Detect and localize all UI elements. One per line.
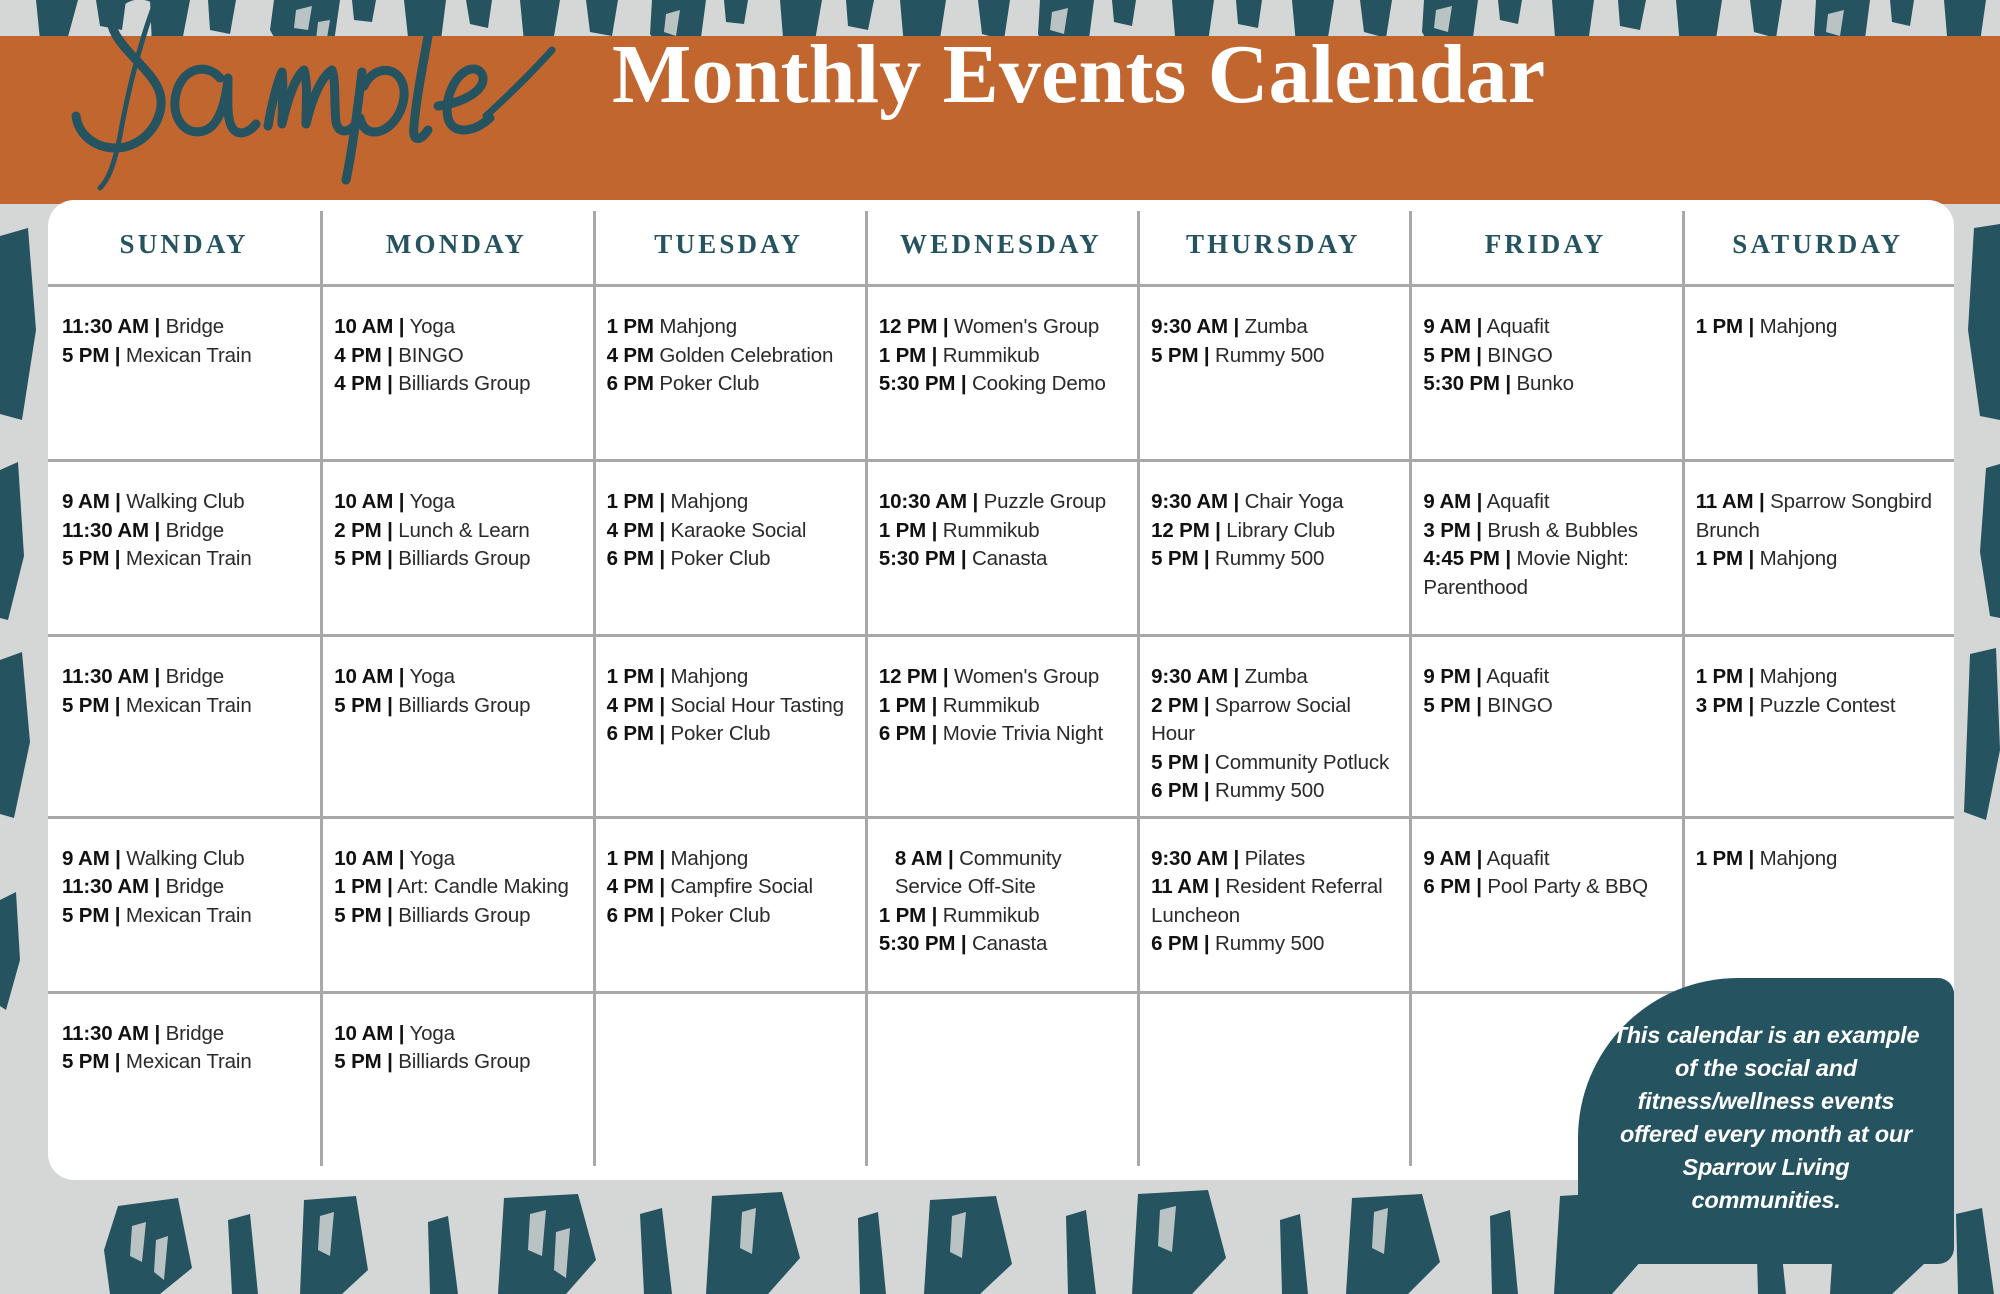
event-separator: | (926, 344, 937, 367)
day-cell-wednesday-week4[interactable]: 8 AM | Community Service Off-Site1 PM | … (865, 819, 1137, 991)
calendar-week-row: 9 AM | Walking Club11:30 AM | Bridge5 PM… (48, 819, 1954, 994)
calendar-event[interactable]: 2 PM | Sparrow Social Hour (1151, 692, 1395, 749)
event-name: Yoga (404, 847, 455, 870)
event-separator: | (1471, 665, 1482, 688)
calendar-week-row: 11:30 AM | Bridge5 PM | Mexican Train10 … (48, 287, 1954, 462)
calendar-event[interactable]: 1 PM | Rummikub (879, 902, 1123, 931)
event-name: Poker Club (665, 904, 770, 927)
event-time: 6 PM (607, 372, 654, 395)
event-time: 12 PM (879, 665, 938, 688)
calendar-event[interactable]: 9 AM | Aquafit (1423, 845, 1667, 874)
event-separator: | (1210, 519, 1221, 542)
calendar-event[interactable]: 5:30 PM | Canasta (879, 930, 1123, 959)
day-cell-wednesday-week5[interactable] (865, 994, 1137, 1166)
event-separator: | (1471, 694, 1482, 717)
calendar-event[interactable]: 5 PM | Billiards Group (334, 692, 578, 721)
day-cell-tuesday-week3[interactable]: 1 PM | Mahjong4 PM | Social Hour Tasting… (593, 637, 865, 816)
calendar-event[interactable]: 4 PM | Karaoke Social (607, 517, 851, 546)
event-separator: | (926, 904, 937, 927)
day-cell-tuesday-week5[interactable] (593, 994, 865, 1166)
event-separator: | (382, 519, 393, 542)
calendar-event[interactable]: 5:30 PM | Bunko (1423, 370, 1667, 399)
calendar-event[interactable]: 10 AM | Yoga (334, 313, 578, 342)
event-name: Mahjong (665, 490, 748, 513)
event-separator: | (654, 519, 665, 542)
event-time: 4 PM (607, 519, 654, 542)
calendar-event[interactable]: 10 AM | Yoga (334, 663, 578, 692)
event-time: 5 PM (1151, 547, 1198, 570)
event-time: 12 PM (1151, 519, 1210, 542)
calendar-event[interactable]: 1 PM | Rummikub (879, 692, 1123, 721)
day-cell-tuesday-week4[interactable]: 1 PM | Mahjong4 PM | Campfire Social6 PM… (593, 819, 865, 991)
calendar-event[interactable]: 1 PM | Mahjong (1696, 663, 1940, 692)
event-time: 6 PM (1151, 932, 1198, 955)
event-separator: | (654, 875, 665, 898)
day-cell-monday-week1[interactable]: 10 AM | Yoga4 PM | BINGO4 PM | Billiards… (320, 287, 592, 459)
event-time: 6 PM (607, 722, 654, 745)
event-time: 4:45 PM (1423, 547, 1499, 570)
event-separator: | (109, 904, 120, 927)
event-separator: | (654, 904, 665, 927)
event-time: 1 PM (879, 694, 926, 717)
calendar-event[interactable]: 9:30 AM | Chair Yoga (1151, 488, 1395, 517)
event-time: 3 PM (1423, 519, 1470, 542)
calendar-event[interactable]: 6 PM | Pool Party & BBQ (1423, 873, 1667, 902)
calendar-event[interactable]: 2 PM | Lunch & Learn (334, 517, 578, 546)
event-name: Women's Group (948, 315, 1099, 338)
event-name: Rummikub (937, 694, 1039, 717)
event-name: Poker Club (665, 547, 770, 570)
event-time: 9 AM (62, 847, 110, 870)
event-time: 5:30 PM (879, 547, 955, 570)
event-time: 11 AM (1696, 490, 1754, 513)
event-name: Rummikub (937, 344, 1039, 367)
calendar-event[interactable]: 4 PM Golden Celebration (607, 342, 851, 371)
event-time: 10:30 AM (879, 490, 967, 513)
event-separator: | (149, 665, 160, 688)
event-name: Bridge (160, 875, 224, 898)
calendar-event[interactable]: 5 PM | Billiards Group (334, 902, 578, 931)
event-time: 5:30 PM (1423, 372, 1499, 395)
calendar-event[interactable]: 10 AM | Yoga (334, 845, 578, 874)
day-cell-saturday-week4[interactable]: 1 PM | Mahjong (1682, 819, 1954, 991)
event-separator: | (1198, 932, 1209, 955)
event-name: Cooking Demo (966, 372, 1105, 395)
calendar-event[interactable]: 12 PM | Library Club (1151, 517, 1395, 546)
day-cell-thursday-week1[interactable]: 9:30 AM | Zumba5 PM | Rummy 500 (1137, 287, 1409, 459)
event-name: Rummy 500 (1210, 344, 1325, 367)
event-separator: | (1743, 694, 1754, 717)
calendar-event[interactable]: 1 PM | Mahjong (607, 845, 851, 874)
event-name: Mahjong (654, 315, 737, 338)
calendar-event[interactable]: 10 AM | Yoga (334, 1020, 578, 1049)
calendar-event[interactable]: 10 AM | Yoga (334, 488, 578, 517)
calendar-event[interactable]: 10:30 AM | Puzzle Group (879, 488, 1123, 517)
event-separator: | (937, 665, 948, 688)
day-cell-monday-week3[interactable]: 10 AM | Yoga5 PM | Billiards Group (320, 637, 592, 816)
event-name: Aquafit (1482, 490, 1549, 513)
event-time: 5 PM (62, 547, 109, 570)
calendar-event[interactable]: 1 PM | Mahjong (607, 488, 851, 517)
event-separator: | (1471, 490, 1482, 513)
calendar-event[interactable]: 4 PM | Billiards Group (334, 370, 578, 399)
event-separator: | (1198, 344, 1209, 367)
event-name: Rummy 500 (1210, 547, 1325, 570)
event-name: Walking Club (121, 490, 245, 513)
event-separator: | (1198, 751, 1209, 774)
calendar-event[interactable]: 11 AM | Sparrow Songbird Brunch (1696, 488, 1940, 545)
calendar-event[interactable]: 11:30 AM | Bridge (62, 663, 306, 692)
event-name: Poker Club (654, 372, 759, 395)
event-separator: | (109, 1050, 120, 1073)
event-time: 5 PM (62, 344, 109, 367)
calendar-event[interactable]: 11:30 AM | Bridge (62, 873, 306, 902)
calendar-event[interactable]: 11 AM | Resident Referral Luncheon (1151, 873, 1395, 930)
event-separator: | (149, 875, 160, 898)
event-time: 1 PM (607, 665, 654, 688)
weekday-header-wednesday: WEDNESDAY (865, 225, 1137, 260)
event-separator: | (1743, 847, 1754, 870)
event-separator: | (149, 519, 160, 542)
day-cell-sunday-week1[interactable]: 11:30 AM | Bridge5 PM | Mexican Train (48, 287, 320, 459)
event-time: 10 AM (334, 315, 393, 338)
event-separator: | (1743, 315, 1754, 338)
event-time: 12 PM (879, 315, 938, 338)
event-separator: | (937, 315, 948, 338)
event-time: 10 AM (334, 490, 393, 513)
event-name: Yoga (404, 665, 455, 688)
event-separator: | (382, 1050, 393, 1073)
event-name: Lunch & Learn (393, 519, 530, 542)
calendar-event[interactable]: 5 PM | Rummy 500 (1151, 545, 1395, 574)
event-separator: | (393, 315, 404, 338)
calendar-event[interactable]: 8 AM | Community Service Off-Site (879, 845, 1123, 902)
event-separator: | (654, 694, 665, 717)
event-name: Mexican Train (120, 547, 251, 570)
calendar-event[interactable]: 5 PM | Mexican Train (62, 342, 306, 371)
callout-text: This calendar is an example of the socia… (1608, 1019, 1924, 1217)
day-cell-thursday-week5[interactable] (1137, 994, 1409, 1166)
event-name: Zumba (1239, 665, 1308, 688)
event-name: Mexican Train (120, 344, 251, 367)
calendar-event[interactable]: 5 PM | Mexican Train (62, 545, 306, 574)
day-cell-friday-week1[interactable]: 9 AM | Aquafit5 PM | BINGO5:30 PM | Bunk… (1409, 287, 1681, 459)
event-separator: | (955, 547, 966, 570)
calendar-event[interactable]: 3 PM | Puzzle Contest (1696, 692, 1940, 721)
calendar-event[interactable]: 4 PM | Campfire Social (607, 873, 851, 902)
calendar-event[interactable]: 9:30 AM | Pilates (1151, 845, 1395, 874)
calendar-event[interactable]: 12 PM | Women's Group (879, 313, 1123, 342)
day-cell-monday-week2[interactable]: 10 AM | Yoga2 PM | Lunch & Learn5 PM | B… (320, 462, 592, 634)
event-separator: | (955, 932, 966, 955)
event-time: 6 PM (607, 547, 654, 570)
event-time: 1 PM (607, 490, 654, 513)
event-time: 1 PM (879, 519, 926, 542)
event-name: Billiards Group (393, 372, 531, 395)
event-separator: | (1228, 315, 1239, 338)
event-time: 8 AM (895, 847, 943, 870)
calendar-event[interactable]: 1 PM | Art: Candle Making (334, 873, 578, 902)
event-time: 5 PM (1423, 694, 1470, 717)
calendar-event[interactable]: 11:30 AM | Bridge (62, 517, 306, 546)
calendar-week-row: 9 AM | Walking Club11:30 AM | Bridge5 PM… (48, 462, 1954, 637)
event-separator: | (1198, 694, 1209, 717)
event-time: 5 PM (334, 547, 381, 570)
day-cell-wednesday-week3[interactable]: 12 PM | Women's Group1 PM | Rummikub6 PM… (865, 637, 1137, 816)
event-separator: | (109, 344, 120, 367)
event-time: 5:30 PM (879, 372, 955, 395)
day-cell-thursday-week4[interactable]: 9:30 AM | Pilates11 AM | Resident Referr… (1137, 819, 1409, 991)
calendar-event[interactable]: 1 PM | Mahjong (1696, 545, 1940, 574)
event-separator: | (149, 1022, 160, 1045)
calendar-event[interactable]: 5 PM | BINGO (1423, 342, 1667, 371)
event-name: Mexican Train (120, 694, 251, 717)
event-time: 5 PM (62, 1050, 109, 1073)
event-time: 11:30 AM (62, 665, 149, 688)
day-cell-tuesday-week1[interactable]: 1 PM Mahjong4 PM Golden Celebration6 PM … (593, 287, 865, 459)
calendar-event[interactable]: 9 AM | Aquafit (1423, 488, 1667, 517)
calendar-event[interactable]: 1 PM | Mahjong (1696, 313, 1940, 342)
event-name: Mahjong (1754, 315, 1837, 338)
event-name: Chair Yoga (1239, 490, 1343, 513)
calendar-event[interactable]: 5:30 PM | Cooking Demo (879, 370, 1123, 399)
event-name: Bridge (160, 665, 224, 688)
event-name: Campfire Social (665, 875, 813, 898)
calendar-event[interactable]: 1 PM | Mahjong (1696, 845, 1940, 874)
event-time: 5 PM (334, 694, 381, 717)
event-name: Golden Celebration (654, 344, 834, 367)
event-name: Billiards Group (393, 1050, 531, 1073)
event-separator: | (1500, 372, 1511, 395)
event-name: Bridge (160, 1022, 224, 1045)
day-cell-wednesday-week1[interactable]: 12 PM | Women's Group1 PM | Rummikub5:30… (865, 287, 1137, 459)
day-cell-thursday-week2[interactable]: 9:30 AM | Chair Yoga12 PM | Library Club… (1137, 462, 1409, 634)
event-separator: | (654, 722, 665, 745)
event-time: 9:30 AM (1151, 315, 1228, 338)
event-time: 9 PM (1423, 665, 1470, 688)
event-name: Billiards Group (393, 694, 531, 717)
event-separator: | (1753, 490, 1764, 513)
event-time: 2 PM (1151, 694, 1198, 717)
calendar-event[interactable]: 5 PM | BINGO (1423, 692, 1667, 721)
event-separator: | (110, 490, 121, 513)
event-time: 5:30 PM (879, 932, 955, 955)
event-name: Community Potluck (1210, 751, 1390, 774)
day-cell-wednesday-week2[interactable]: 10:30 AM | Puzzle Group1 PM | Rummikub5:… (865, 462, 1137, 634)
calendar-event[interactable]: 1 PM | Rummikub (879, 342, 1123, 371)
event-name: Art: Candle Making (393, 875, 569, 898)
calendar-event[interactable]: 6 PM | Poker Club (607, 545, 851, 574)
event-name: Puzzle Group (978, 490, 1106, 513)
event-time: 9:30 AM (1151, 847, 1228, 870)
day-cell-tuesday-week2[interactable]: 1 PM | Mahjong4 PM | Karaoke Social6 PM … (593, 462, 865, 634)
calendar-event[interactable]: 9 AM | Aquafit (1423, 313, 1667, 342)
calendar-event[interactable]: 4:45 PM | Movie Night: Parenthood (1423, 545, 1667, 602)
event-name: Rummikub (937, 904, 1039, 927)
calendar-event[interactable]: 1 PM | Mahjong (607, 663, 851, 692)
event-separator: | (382, 904, 393, 927)
event-name: Women's Group (948, 665, 1099, 688)
event-time: 9 AM (1423, 490, 1471, 513)
calendar-event[interactable]: 5:30 PM | Canasta (879, 545, 1123, 574)
event-name: Mahjong (1754, 547, 1837, 570)
event-time: 4 PM (607, 875, 654, 898)
day-cell-saturday-week3[interactable]: 1 PM | Mahjong3 PM | Puzzle Contest (1682, 637, 1954, 816)
event-time: 5 PM (1423, 344, 1470, 367)
calendar-event[interactable]: 11:30 AM | Bridge (62, 313, 306, 342)
event-separator: | (926, 519, 937, 542)
day-cell-friday-week2[interactable]: 9 AM | Aquafit3 PM | Brush & Bubbles4:45… (1409, 462, 1681, 634)
calendar-event[interactable]: 6 PM | Poker Club (607, 720, 851, 749)
day-cell-friday-week3[interactable]: 9 PM | Aquafit5 PM | BINGO (1409, 637, 1681, 816)
event-name: Yoga (404, 1022, 455, 1045)
weekday-header-monday: MONDAY (320, 225, 592, 260)
event-separator: | (382, 547, 393, 570)
event-name: BINGO (1482, 344, 1553, 367)
event-name: Pilates (1239, 847, 1305, 870)
event-separator: | (109, 694, 120, 717)
event-separator: | (654, 547, 665, 570)
calendar-event[interactable]: 12 PM | Women's Group (879, 663, 1123, 692)
calendar-event[interactable]: 6 PM | Poker Club (607, 902, 851, 931)
event-time: 4 PM (607, 694, 654, 717)
calendar-event[interactable]: 11:30 AM | Bridge (62, 1020, 306, 1049)
event-separator: | (382, 344, 393, 367)
event-time: 4 PM (334, 372, 381, 395)
event-time: 1 PM (1696, 847, 1743, 870)
day-cell-sunday-week4[interactable]: 9 AM | Walking Club11:30 AM | Bridge5 PM… (48, 819, 320, 991)
event-name: Puzzle Contest (1754, 694, 1895, 717)
calendar-event[interactable]: 4 PM | Social Hour Tasting (607, 692, 851, 721)
event-time: 9 AM (1423, 847, 1471, 870)
event-separator: | (1743, 665, 1754, 688)
event-separator: | (382, 372, 393, 395)
event-time: 11 AM (1151, 875, 1209, 898)
day-cell-saturday-week2[interactable]: 11 AM | Sparrow Songbird Brunch1 PM | Ma… (1682, 462, 1954, 634)
event-time: 1 PM (879, 344, 926, 367)
calendar-event[interactable]: 9:30 AM | Zumba (1151, 663, 1395, 692)
calendar-event[interactable]: 6 PM Poker Club (607, 370, 851, 399)
event-name: Aquafit (1482, 665, 1549, 688)
event-time: 9:30 AM (1151, 665, 1228, 688)
event-name: Aquafit (1482, 315, 1549, 338)
event-separator: | (1471, 847, 1482, 870)
day-cell-saturday-week1[interactable]: 1 PM | Mahjong (1682, 287, 1954, 459)
calendar-event[interactable]: 1 PM Mahjong (607, 313, 851, 342)
calendar-event[interactable]: 3 PM | Brush & Bubbles (1423, 517, 1667, 546)
event-time: 9 AM (62, 490, 110, 513)
event-time: 1 PM (1696, 547, 1743, 570)
event-time: 6 PM (879, 722, 926, 745)
event-time: 5 PM (334, 1050, 381, 1073)
calendar-event[interactable]: 5 PM | Billiards Group (334, 545, 578, 574)
calendar-event[interactable]: 6 PM | Rummy 500 (1151, 930, 1395, 959)
calendar-week-row: 11:30 AM | Bridge5 PM | Mexican Train10 … (48, 637, 1954, 819)
event-separator: | (109, 547, 120, 570)
event-time: 1 PM (607, 315, 654, 338)
event-name: Mexican Train (120, 1050, 251, 1073)
day-cell-monday-week5[interactable]: 10 AM | Yoga5 PM | Billiards Group (320, 994, 592, 1166)
event-name: Brush & Bubbles (1482, 519, 1638, 542)
day-cell-thursday-week3[interactable]: 9:30 AM | Zumba2 PM | Sparrow Social Hou… (1137, 637, 1409, 816)
weekday-header-tuesday: TUESDAY (593, 225, 865, 260)
event-name: Bunko (1511, 372, 1574, 395)
weekday-header-sunday: SUNDAY (48, 225, 320, 260)
event-name: Mahjong (1754, 665, 1837, 688)
event-name: Bridge (160, 315, 224, 338)
calendar-event[interactable]: 6 PM | Rummy 500 (1151, 777, 1395, 806)
event-separator: | (393, 847, 404, 870)
event-name: Rummikub (937, 519, 1039, 542)
calendar-event[interactable]: 5 PM | Rummy 500 (1151, 342, 1395, 371)
calendar-event[interactable]: 5 PM | Mexican Train (62, 692, 306, 721)
event-time: 1 PM (334, 875, 381, 898)
calendar-event[interactable]: 4 PM | BINGO (334, 342, 578, 371)
event-name: Mahjong (665, 847, 748, 870)
event-name: Mexican Train (120, 904, 251, 927)
event-separator: | (1471, 875, 1482, 898)
event-separator: | (654, 847, 665, 870)
event-name: Mahjong (1754, 847, 1837, 870)
event-separator: | (654, 490, 665, 513)
event-name: Social Hour Tasting (665, 694, 844, 717)
event-separator: | (967, 490, 978, 513)
calendar-event[interactable]: 1 PM | Rummikub (879, 517, 1123, 546)
weekday-header-saturday: SATURDAY (1682, 225, 1954, 260)
event-name: Billiards Group (393, 547, 531, 570)
event-separator: | (654, 665, 665, 688)
event-time: 1 PM (607, 847, 654, 870)
event-time: 5 PM (334, 904, 381, 927)
day-cell-sunday-week5[interactable]: 11:30 AM | Bridge5 PM | Mexican Train (48, 994, 320, 1166)
event-separator: | (110, 847, 121, 870)
event-separator: | (1471, 315, 1482, 338)
day-cell-sunday-week3[interactable]: 11:30 AM | Bridge5 PM | Mexican Train (48, 637, 320, 816)
event-name: Library Club (1221, 519, 1335, 542)
calendar-event[interactable]: 5 PM | Mexican Train (62, 1048, 306, 1077)
event-time: 10 AM (334, 665, 393, 688)
weekday-header-thursday: THURSDAY (1137, 225, 1409, 260)
calendar-event[interactable]: 5 PM | Community Potluck (1151, 749, 1395, 778)
day-cell-friday-week4[interactable]: 9 AM | Aquafit6 PM | Pool Party & BBQ (1409, 819, 1681, 991)
event-separator: | (1743, 547, 1754, 570)
calendar-event[interactable]: 6 PM | Movie Trivia Night (879, 720, 1123, 749)
calendar-event[interactable]: 9:30 AM | Zumba (1151, 313, 1395, 342)
calendar-event[interactable]: 5 PM | Billiards Group (334, 1048, 578, 1077)
day-cell-monday-week4[interactable]: 10 AM | Yoga1 PM | Art: Candle Making5 P… (320, 819, 592, 991)
event-separator: | (1198, 779, 1209, 802)
event-separator: | (149, 315, 160, 338)
event-time: 2 PM (334, 519, 381, 542)
event-time: 9 AM (1423, 315, 1471, 338)
weekday-header-row: SUNDAY MONDAY TUESDAY WEDNESDAY THURSDAY… (48, 200, 1954, 284)
event-time: 6 PM (1423, 875, 1470, 898)
event-time: 5 PM (1151, 344, 1198, 367)
event-separator: | (393, 665, 404, 688)
event-name: BINGO (1482, 694, 1553, 717)
calendar-event[interactable]: 9 AM | Walking Club (62, 845, 306, 874)
calendar-event[interactable]: 9 PM | Aquafit (1423, 663, 1667, 692)
calendar-event[interactable]: 9 AM | Walking Club (62, 488, 306, 517)
day-cell-sunday-week2[interactable]: 9 AM | Walking Club11:30 AM | Bridge5 PM… (48, 462, 320, 634)
event-time: 6 PM (1151, 779, 1198, 802)
event-name: Yoga (404, 490, 455, 513)
event-time: 3 PM (1696, 694, 1743, 717)
calendar-event[interactable]: 5 PM | Mexican Train (62, 902, 306, 931)
event-separator: | (1228, 847, 1239, 870)
event-time: 6 PM (607, 904, 654, 927)
event-separator: | (926, 694, 937, 717)
